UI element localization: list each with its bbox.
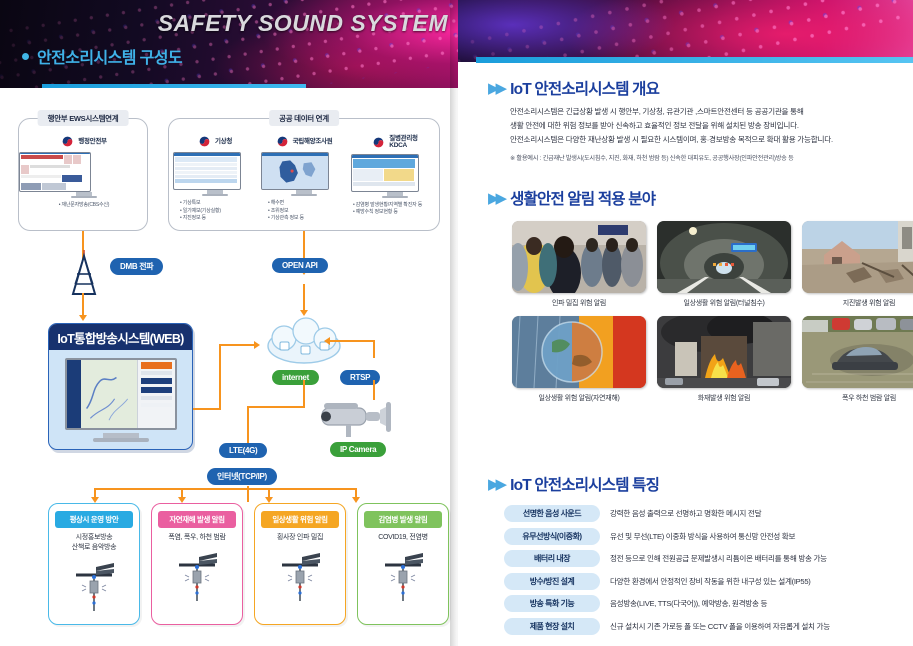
- monitor-screen: [261, 152, 329, 190]
- iot-card-title: IoT통합방송시스템(WEB): [49, 324, 192, 350]
- feature-row: 선명한 음성 사운드 강력한 음성 출력으로 선명하고 명확한 메시지 전달: [504, 505, 904, 522]
- connector-to-cloud: [219, 344, 257, 346]
- agency-logo-row: 질병관리청 KDCA: [351, 135, 439, 150]
- screen-content: [352, 158, 418, 191]
- feature-desc: 음성방송(LIVE, TTS(다국어)), 예약방송, 원격방송 등: [610, 598, 767, 609]
- gallery-grid: 인파 밀집 위험 알림: [512, 221, 913, 403]
- gallery-item[interactable]: 일상생활 위험 알림(자연재해): [512, 316, 646, 403]
- overview-line-1: 안전소리시스템은 긴급상황 발생 시 행안부, 기상청, 유관기관 ,스마트안전…: [510, 105, 902, 119]
- overview-heading: ▶▶ IoT 안전소리시스템 개요: [488, 77, 659, 99]
- photo-road-tunnel-interior: [657, 221, 791, 293]
- arrow-head-cloud-right: [324, 337, 330, 345]
- monitor-screen: [19, 152, 91, 192]
- feature-tag: 방수/방진 설계: [504, 573, 600, 590]
- speaker-pole-icon: [49, 557, 139, 613]
- internet-cloud-icon: [262, 316, 346, 373]
- photo-climate-change-globe: [512, 316, 646, 388]
- agency-logo-row: 국립해양조사원: [261, 135, 347, 148]
- right-header-banner: [458, 0, 913, 62]
- screen-content: [20, 154, 90, 191]
- photo-earthquake-rubble: [802, 221, 913, 293]
- usecase-card-disaster[interactable]: 자연재해 발생 알림 폭염, 폭우, 하천 범람: [151, 503, 243, 625]
- gallery-caption: 일상생활 위험 알림(터널침수): [657, 298, 791, 308]
- feature-desc: 유선 및 무선(LTE) 이중화 방식을 사용하여 통신망 안전성 확보: [610, 531, 795, 542]
- console-sidebar: [67, 360, 81, 428]
- features-list: 선명한 음성 사운드 강력한 음성 출력으로 선명하고 명확한 메시지 전달 유…: [504, 505, 904, 640]
- feature-desc: 강력한 음성 출력으로 선명하고 명확한 메시지 전달: [610, 508, 761, 519]
- source-group-publicdata: 공공 데이터 연계 기상청: [168, 118, 440, 231]
- korea-gov-emblem-icon: [61, 135, 74, 148]
- korea-gov-emblem-icon: [372, 136, 385, 149]
- double-chevron-right-icon: ▶▶: [488, 475, 503, 493]
- pill-tcpip: 인터넷(TCP/IP): [207, 468, 277, 485]
- gallery-caption: 지진발생 위험 알림: [802, 298, 913, 308]
- double-chevron-right-icon: ▶▶: [488, 79, 503, 97]
- agency-bullets: • 재난문자방송(CBS수신): [19, 202, 149, 210]
- photo-building-fire-smoke: [657, 316, 791, 388]
- photo-flooded-street-car: [802, 316, 913, 388]
- korea-gov-emblem-icon: [198, 135, 211, 148]
- connector-camera-vertical: [373, 340, 375, 358]
- feature-desc: 다양한 환경에서 안정적인 장비 작동을 위한 내구성 있는 설계(IP55): [610, 576, 811, 587]
- gallery-heading: ▶▶ 생활안전 알림 적용 분야: [488, 187, 655, 209]
- usecase-card-normal[interactable]: 평상시 운영 방안 시정홍보방송 산책로 음악방송: [48, 503, 140, 625]
- monitor-illustration: [173, 152, 257, 196]
- monitor-base: [71, 196, 97, 198]
- usecase-card-daily-risk[interactable]: 일상생활 위험 알림 횡사장 인파 밀집: [254, 503, 346, 625]
- monitor-base: [202, 194, 228, 196]
- connector-tower-to-iot: [82, 293, 84, 317]
- feature-tag: 유무선방식(이중화): [504, 528, 600, 545]
- feature-tag: 선명한 음성 사운드: [504, 505, 600, 522]
- led-dot-pattern: [458, 0, 913, 62]
- right-panel: ▶▶ IoT 안전소리시스템 개요 안전소리시스템은 긴급상황 발생 시 행안부…: [458, 0, 913, 646]
- monitor-illustration: [351, 154, 439, 198]
- gallery-heading-label: 생활안전 알림 적용 분야: [510, 187, 655, 209]
- brochure-page: SAFETY SOUND SYSTEM 안전소리시스템 구성도 행안부 EWS시…: [0, 0, 913, 646]
- overview-heading-label: IoT 안전소리시스템 개요: [510, 77, 659, 99]
- brand-title: SAFETY SOUND SYSTEM: [158, 10, 448, 37]
- speaker-pole-icon: [358, 547, 448, 603]
- agency-mois: 행정안전부: [19, 135, 149, 210]
- usecase-card-list: 평상시 운영 방안 시정홍보방송 산책로 음악방송: [48, 503, 448, 628]
- connector-iot-right: [193, 408, 221, 410]
- features-heading-label: IoT 안전소리시스템 특징: [510, 473, 659, 495]
- map-graphic-icon: [81, 360, 137, 428]
- feature-desc: 신규 설치시 기존 가로등 폴 또는 CCTV 폴을 이용하여 자유롭게 설치 …: [610, 621, 830, 632]
- connector-distribution-bus: [94, 488, 356, 490]
- agency-kdca: 질병관리청 KDCA: [351, 135, 439, 217]
- agency-bullets: • 해수면 • 조위정보 • 기상관측 정보 등: [261, 200, 347, 223]
- source-group-ews: 행안부 EWS시스템연계 행정안전부: [18, 118, 148, 231]
- feature-tag: 배터리 내장: [504, 550, 600, 567]
- connector-iot-up: [219, 344, 221, 409]
- console-map: [81, 360, 137, 428]
- usecase-card-title: 일상생활 위험 알림: [261, 511, 339, 528]
- monitor-base: [382, 196, 408, 198]
- feature-tag: 방송 특화 기능: [504, 595, 600, 612]
- overview-line-3: 안전소리시스템은 다양한 재난상황 발생 시 필요한 시스템이며, 홍·경보방송…: [510, 133, 902, 147]
- overview-line-2: 생활 안전에 대한 위험 정보를 받아 신속하고 효율적인 정보 전달을 위해 …: [510, 119, 902, 133]
- pill-internet: internet: [272, 370, 319, 385]
- source-group-publicdata-label: 공공 데이터 연계: [269, 110, 339, 126]
- monitor-base: [291, 194, 317, 196]
- gallery-item[interactable]: 인파 밀집 위험 알림: [512, 221, 646, 308]
- agency-logo-row: 행정안전부: [19, 135, 149, 148]
- pill-lte: LTE(4G): [219, 443, 267, 458]
- left-section-title-label: 안전소리시스템 구성도: [37, 44, 182, 68]
- photo-crowd-subway-platform: [512, 221, 646, 293]
- pill-open-api: OPEN API: [272, 258, 328, 273]
- connector-cloud-to-lte: [247, 406, 305, 408]
- double-chevron-right-icon: ▶▶: [488, 189, 503, 207]
- pill-ip-camera: IP Camera: [330, 442, 386, 457]
- feature-tag: 제품 현장 설치: [504, 618, 600, 635]
- console-right-panel: [137, 360, 175, 428]
- usecase-card-title: 평상시 운영 방안: [55, 511, 133, 528]
- overview-paragraph: 안전소리시스템은 긴급상황 발생 시 행안부, 기상청, 유관기관 ,스마트안전…: [510, 105, 902, 162]
- gallery-item[interactable]: 지진발생 위험 알림: [802, 221, 913, 308]
- agency-khoa: 국립해양조사원: [261, 135, 347, 223]
- feature-row: 방송 특화 기능 음성방송(LIVE, TTS(다국어)), 예약방송, 원격방…: [504, 595, 904, 612]
- speaker-pole-icon: [255, 547, 345, 603]
- iot-broadcast-system-card: IoT통합방송시스템(WEB): [48, 323, 193, 450]
- usecase-card-epidemic[interactable]: 감염병 발생 알림 COVID19, 전염병: [357, 503, 449, 625]
- left-header-banner: SAFETY SOUND SYSTEM 안전소리시스템 구성도: [0, 0, 458, 88]
- usecase-card-desc: 폭염, 폭우, 하천 범람: [152, 533, 242, 543]
- agency-name: 질병관리청 KDCA: [389, 135, 417, 150]
- speaker-pole-icon: [152, 547, 242, 603]
- agency-kma: 기상청: [173, 135, 257, 223]
- left-panel: SAFETY SOUND SYSTEM 안전소리시스템 구성도 행안부 EWS시…: [0, 0, 458, 646]
- usecase-card-desc: COVID19, 전염병: [358, 533, 448, 543]
- feature-desc: 정전 등으로 인해 전원공급 문제발생시 리튬이온 배터리를 통해 방송 가능: [610, 553, 827, 564]
- feature-row: 제품 현장 설치 신규 설치시 기존 가로등 폴 또는 CCTV 폴을 이용하여…: [504, 618, 904, 635]
- monitor-screen: [173, 152, 241, 190]
- overview-note: ※ 활용예시 : 긴급재난 발생시(도시침수, 지진, 화재, 하천 범람 등)…: [510, 153, 902, 162]
- usecase-card-title: 자연재해 발생 알림: [158, 511, 236, 528]
- connector-camera-to-cloud: [330, 340, 375, 342]
- agency-bullets: • 기상특보 • 일기예보(기상실황) • 지진정보 등: [173, 200, 257, 223]
- agency-name: 기상청: [215, 138, 232, 145]
- gallery-item[interactable]: 폭우 하천 범람 알림: [802, 316, 913, 403]
- agency-logo-row: 기상청: [173, 135, 257, 148]
- korea-gov-emblem-icon: [276, 135, 289, 148]
- gallery-item[interactable]: 일상생활 위험 알림(터널침수): [657, 221, 791, 308]
- agency-bullets: • 감염병 발생현황/지역별 확진자 등 • 예방수칙 정보현황 등: [351, 202, 439, 217]
- agency-name: 행정안전부: [78, 138, 106, 145]
- pill-dmb: DMB 전파: [110, 258, 163, 275]
- gallery-caption: 인파 밀집 위험 알림: [512, 298, 646, 308]
- usecase-card-title: 감염병 발생 알림: [364, 511, 442, 528]
- gallery-caption: 화재발생 위험 알림: [657, 393, 791, 403]
- feature-row: 방수/방진 설계 다양한 환경에서 안정적인 장비 작동을 위한 내구성 있는 …: [504, 573, 904, 590]
- connector-api-to-cloud: [303, 284, 305, 312]
- agency-name: 국립해양조사원: [293, 138, 333, 145]
- feature-row: 유무선방식(이중화) 유선 및 무선(LTE) 이중화 방식을 사용하여 통신망…: [504, 528, 904, 545]
- korea-map-icon: [263, 157, 327, 187]
- connector-cloud-down: [303, 380, 305, 408]
- connector-lte-vertical: [247, 406, 249, 448]
- source-group-ews-label: 행안부 EWS시스템연계: [38, 110, 129, 126]
- usecase-card-desc: 시정홍보방송 산책로 음악방송: [49, 533, 139, 553]
- bullet-dot-icon: [22, 53, 29, 60]
- screen-content: [174, 156, 240, 189]
- features-heading: ▶▶ IoT 안전소리시스템 특징: [488, 473, 659, 495]
- monitor-illustration: [19, 152, 149, 198]
- dmb-tower-icon: [64, 250, 104, 301]
- connector-camera-up: [373, 380, 375, 400]
- left-section-title: 안전소리시스템 구성도: [22, 44, 182, 68]
- monitor-illustration: [261, 152, 347, 196]
- arrow-head-iot: [79, 315, 87, 321]
- right-content: ▶▶ IoT 안전소리시스템 개요 안전소리시스템은 긴급상황 발생 시 행안부…: [458, 63, 913, 646]
- screen-content: [262, 156, 328, 189]
- iot-console-screen: [65, 358, 177, 430]
- diagram-canvas: 행안부 EWS시스템연계 행정안전부: [0, 88, 458, 646]
- arrow-head-cloud-left: [254, 341, 260, 349]
- feature-row: 배터리 내장 정전 등으로 인해 전원공급 문제발생시 리튬이온 배터리를 통해…: [504, 550, 904, 567]
- gallery-caption: 폭우 하천 범람 알림: [802, 393, 913, 403]
- gallery-caption: 일상생활 위험 알림(자연재해): [512, 393, 646, 403]
- usecase-card-desc: 횡사장 인파 밀집: [255, 533, 345, 543]
- gallery-item[interactable]: 화재발생 위험 알림: [657, 316, 791, 403]
- monitor-screen: [351, 154, 419, 192]
